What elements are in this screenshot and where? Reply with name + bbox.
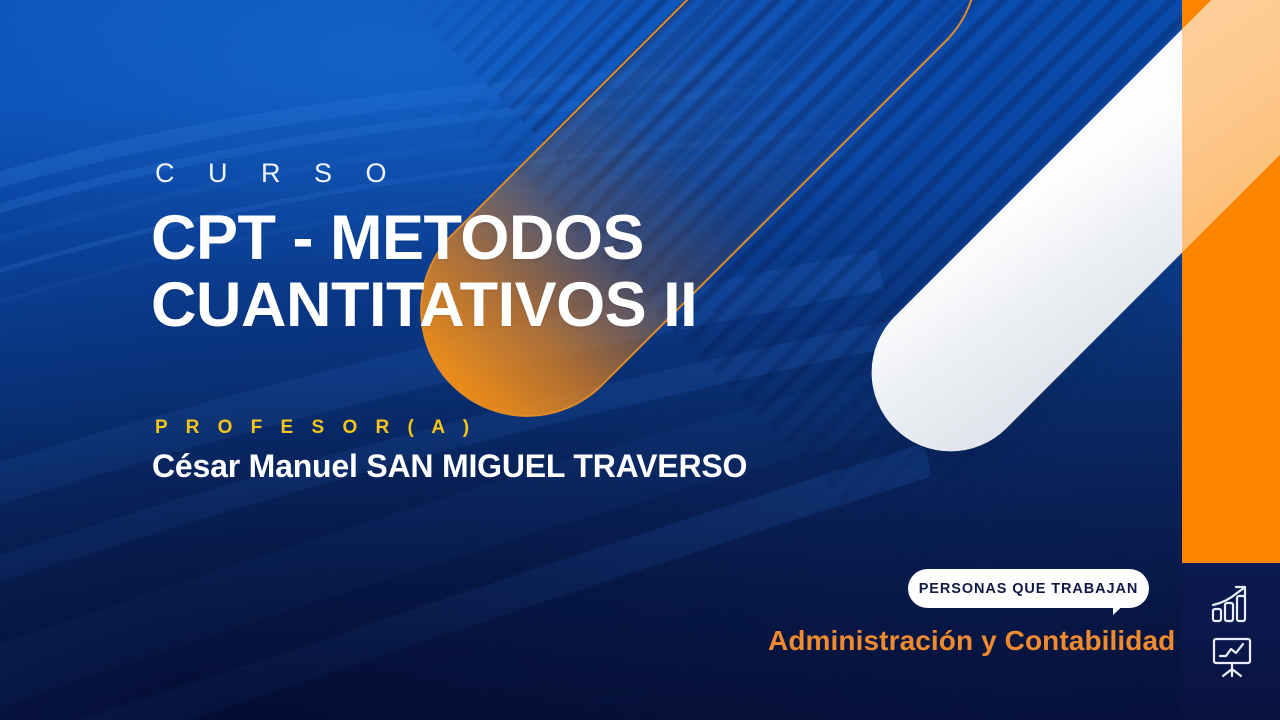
professor-name: César Manuel SAN MIGUEL TRAVERSO	[152, 448, 747, 485]
speech-bubble-tail	[1113, 602, 1133, 615]
bar-chart-growth-icon	[1210, 584, 1254, 624]
presentation-chart-icon	[1210, 636, 1254, 678]
course-title-slide: C U R S O CPT - METODOS CUANTITATIVOS II…	[0, 0, 1280, 720]
kicker-curso: C U R S O	[155, 158, 400, 189]
professor-label: P R O F E S O R ( A )	[155, 417, 476, 439]
text-content: C U R S O CPT - METODOS CUANTITATIVOS II…	[155, 0, 875, 720]
corner-icon-group	[1204, 584, 1260, 678]
program-name: Administración y Contabilidad	[768, 625, 1175, 657]
page-title: CPT - METODOS CUANTITATIVOS II	[151, 205, 911, 340]
audience-badge: PERSONAS QUE TRABAJAN	[908, 569, 1152, 614]
audience-badge-label: PERSONAS QUE TRABAJAN	[919, 581, 1139, 597]
